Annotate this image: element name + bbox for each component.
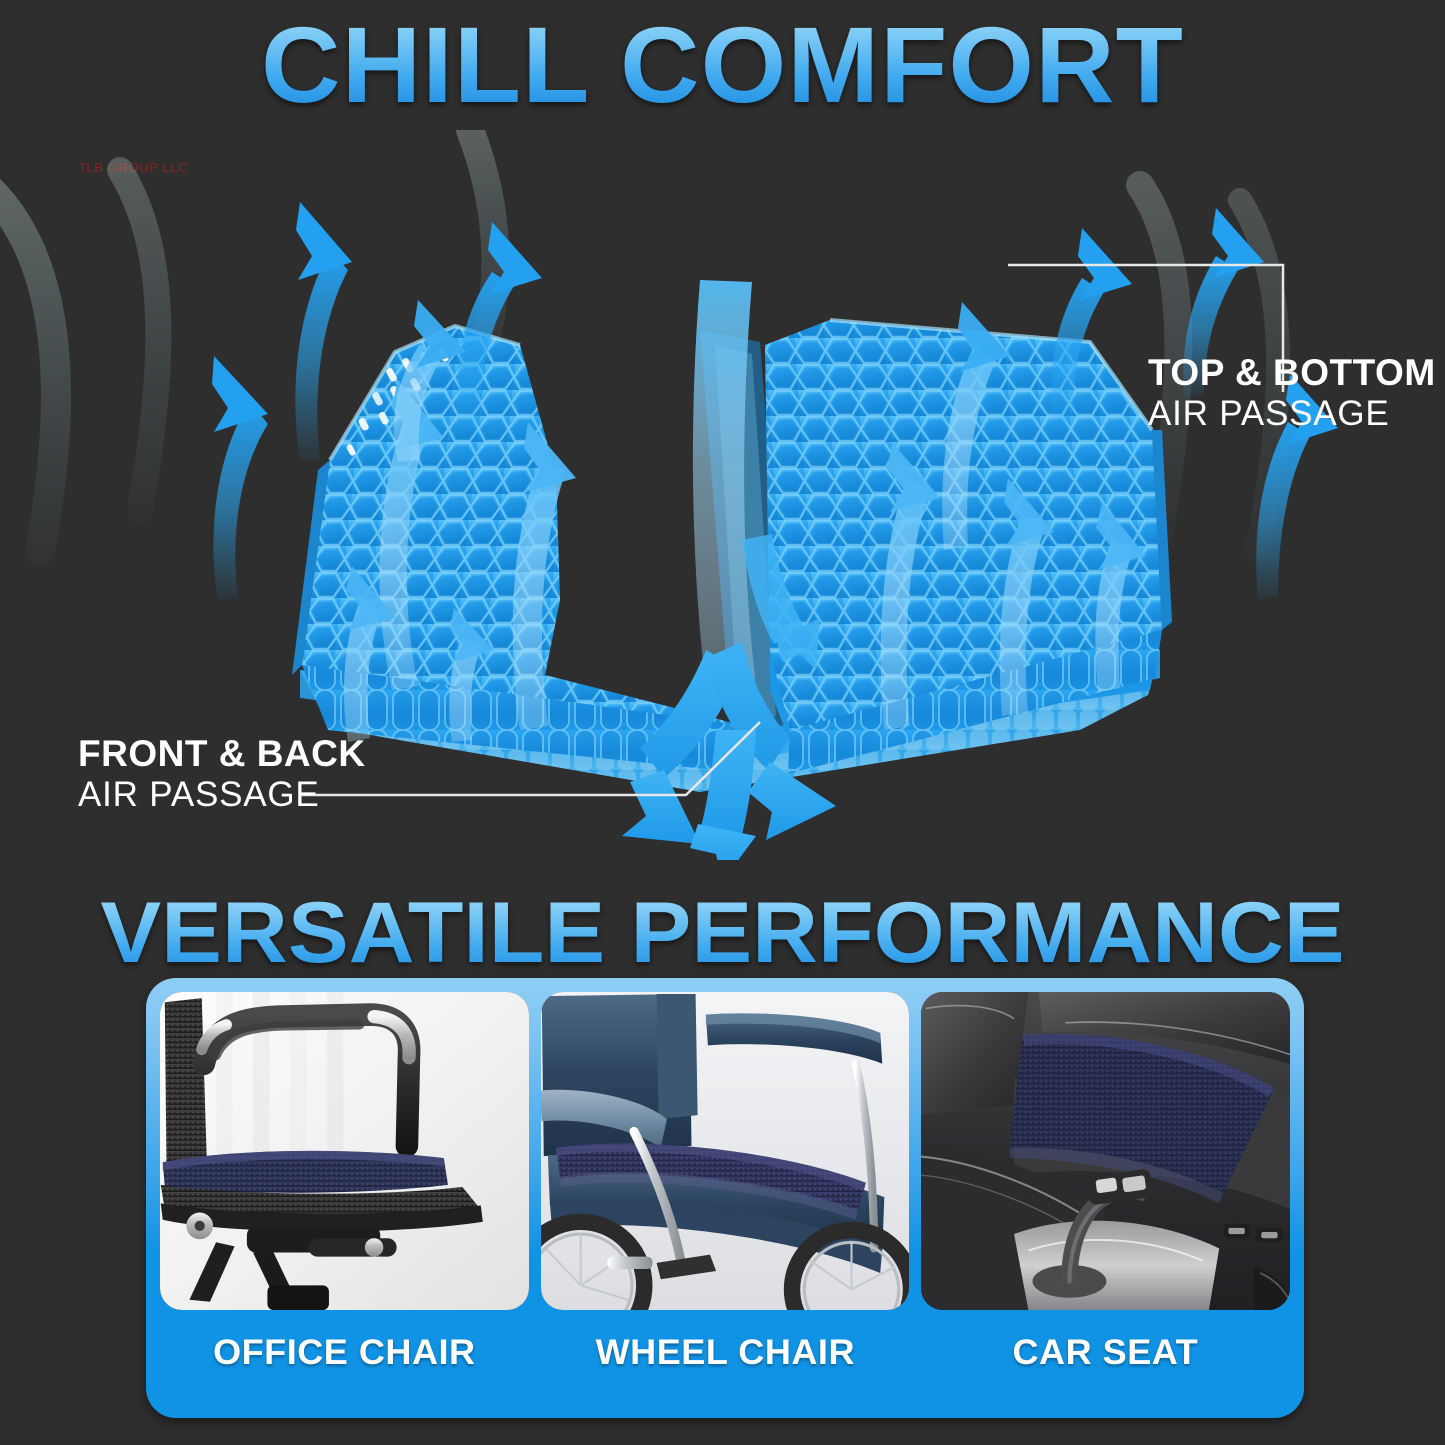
arrow-out-left-lower (212, 356, 268, 600)
use-case-label-row: OFFICE CHAIR WHEEL CHAIR CAR SEAT (160, 1318, 1290, 1388)
use-case-label-wheel-chair: WHEEL CHAIR (535, 1333, 915, 1373)
callout-top-bottom: TOP & BOTTOM AIR PASSAGE (1148, 352, 1436, 434)
callout-top-bottom-title: TOP & BOTTOM (1148, 352, 1436, 394)
use-case-photo-car-seat[interactable] (921, 992, 1290, 1310)
page-title: CHILL COMFORT (0, 8, 1445, 121)
use-case-photo-office-chair[interactable] (160, 992, 529, 1310)
use-case-label-car-seat: CAR SEAT (916, 1333, 1296, 1373)
callout-front-back-subtitle: AIR PASSAGE (78, 775, 366, 815)
arrow-out-left-upper (295, 202, 352, 460)
section-title-versatile: VERSATILE PERFORMANCE (0, 884, 1445, 983)
use-case-photo-wheel-chair[interactable] (541, 992, 910, 1310)
callout-front-back: FRONT & BACK AIR PASSAGE (78, 733, 366, 815)
callout-top-bottom-subtitle: AIR PASSAGE (1148, 394, 1436, 434)
callout-front-back-title: FRONT & BACK (78, 733, 366, 775)
use-case-label-office-chair: OFFICE CHAIR (154, 1333, 534, 1373)
versatile-performance-panel: OFFICE CHAIR WHEEL CHAIR CAR SEAT (146, 978, 1304, 1418)
use-case-photo-row (160, 992, 1290, 1310)
